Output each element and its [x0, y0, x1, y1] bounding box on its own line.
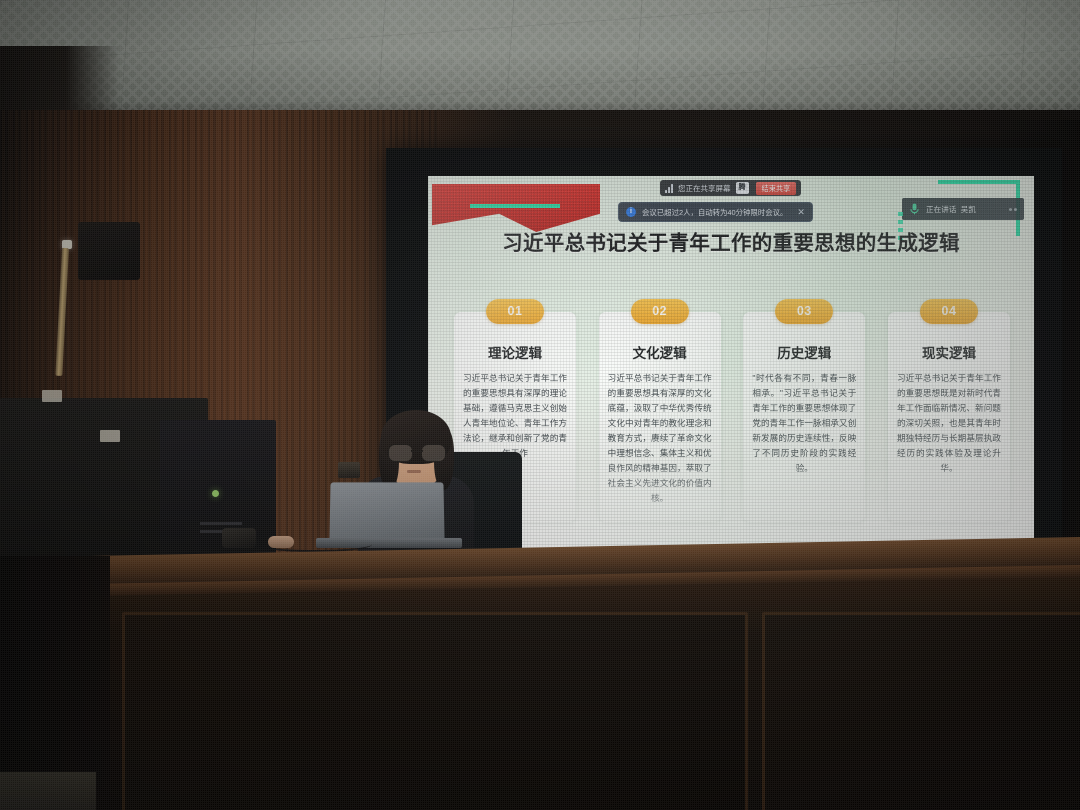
logic-card: 03 历史逻辑 "时代各有不同，青春一脉相承。"习近平总书记关于青年工作的重要思… — [743, 312, 865, 522]
podium-panel — [122, 612, 748, 810]
desk-device — [222, 528, 256, 548]
meeting-duration-toast: i 会议已超过2人，自动转为40分钟限时会议。 ✕ — [618, 202, 813, 222]
conference-room-scene: 您正在共享屏幕 腾 结束共享 i 会议已超过2人，自动转为40分钟限时会议。 ✕ — [0, 0, 1080, 810]
laptop-screen — [329, 482, 444, 540]
share-edge-tick — [898, 212, 903, 216]
podium-panel — [762, 612, 1080, 810]
equipment-rack-secondary — [160, 420, 276, 572]
microphone-icon — [909, 203, 920, 216]
rack-label — [42, 390, 62, 402]
card-title: 历史逻辑 — [752, 342, 856, 362]
card-body-text: 习近平总书记关于青年工作的重要思想具有深厚的理论基础，遵循马克思主义创始人青年地… — [463, 371, 567, 461]
glasses-bridge — [411, 450, 423, 452]
eyeglasses-icon — [388, 444, 446, 460]
speaker-name: 吴凯 — [961, 205, 976, 214]
card-body-text: 习近平总书记关于青年工作的重要思想具有深厚的文化底蕴，汲取了中华优秀传统文化中对… — [608, 371, 712, 506]
rack-vent — [200, 522, 242, 525]
active-speaker-bar: 正在讲话 吴凯 — [902, 198, 1024, 220]
rack-power-led — [212, 490, 219, 497]
card-body-text: 习近平总书记关于青年工作的重要思想既是对新时代青年工作面临新情况、新问题的深切关… — [897, 371, 1001, 476]
card-number-badge: 03 — [775, 299, 833, 324]
card-title: 理论逻辑 — [463, 342, 567, 362]
toast-message: 会议已超过2人，自动转为40分钟限时会议。 — [642, 207, 787, 218]
logic-card: 04 现实逻辑 习近平总书记关于青年工作的重要思想既是对新时代青年工作面临新情况… — [888, 312, 1010, 522]
screen-share-status-bar[interactable]: 您正在共享屏幕 腾 结束共享 — [660, 180, 801, 196]
slide-title: 习近平总书记关于青年工作的重要思想的生成逻辑 — [428, 226, 1034, 256]
floor-patch — [0, 772, 96, 810]
card-title: 文化逻辑 — [608, 342, 712, 362]
share-status-text: 您正在共享屏幕 — [678, 183, 731, 194]
signal-bars-icon — [665, 184, 673, 193]
logic-cards-row: 01 理论逻辑 习近平总书记关于青年工作的重要思想具有深厚的理论基础，遵循马克思… — [454, 312, 1010, 522]
stop-sharing-button[interactable]: 结束共享 — [756, 182, 797, 195]
presenter-mouth — [407, 470, 421, 473]
lens-right — [421, 444, 446, 462]
card-title: 现实逻辑 — [897, 342, 1001, 362]
speaking-status-text: 正在讲话 — [926, 205, 956, 214]
card-number-badge: 04 — [920, 299, 978, 324]
close-icon[interactable]: ✕ — [797, 207, 805, 218]
app-logo-icon: 腾 — [736, 182, 749, 194]
logic-card: 02 文化逻辑 习近平总书记关于青年工作的重要思想具有深厚的文化底蕴，汲取了中华… — [599, 312, 721, 522]
lens-left — [388, 444, 413, 462]
sound-wave-icon — [1009, 208, 1017, 211]
info-icon: i — [626, 207, 636, 217]
wall-speaker — [78, 222, 140, 280]
card-number-badge: 01 — [486, 299, 544, 324]
share-edge-tick — [898, 220, 903, 224]
active-speaker-label: 正在讲话 吴凯 — [926, 204, 1003, 215]
desk-cable-secondary — [252, 536, 372, 552]
card-body-text: "时代各有不同，青春一脉相承。"习近平总书记关于青年工作的重要思想体现了党的青年… — [752, 371, 856, 476]
ceiling-tile-grid — [0, 0, 1080, 128]
ceiling — [0, 0, 1080, 128]
card-number-badge: 02 — [631, 299, 689, 324]
rack-label — [100, 430, 120, 442]
